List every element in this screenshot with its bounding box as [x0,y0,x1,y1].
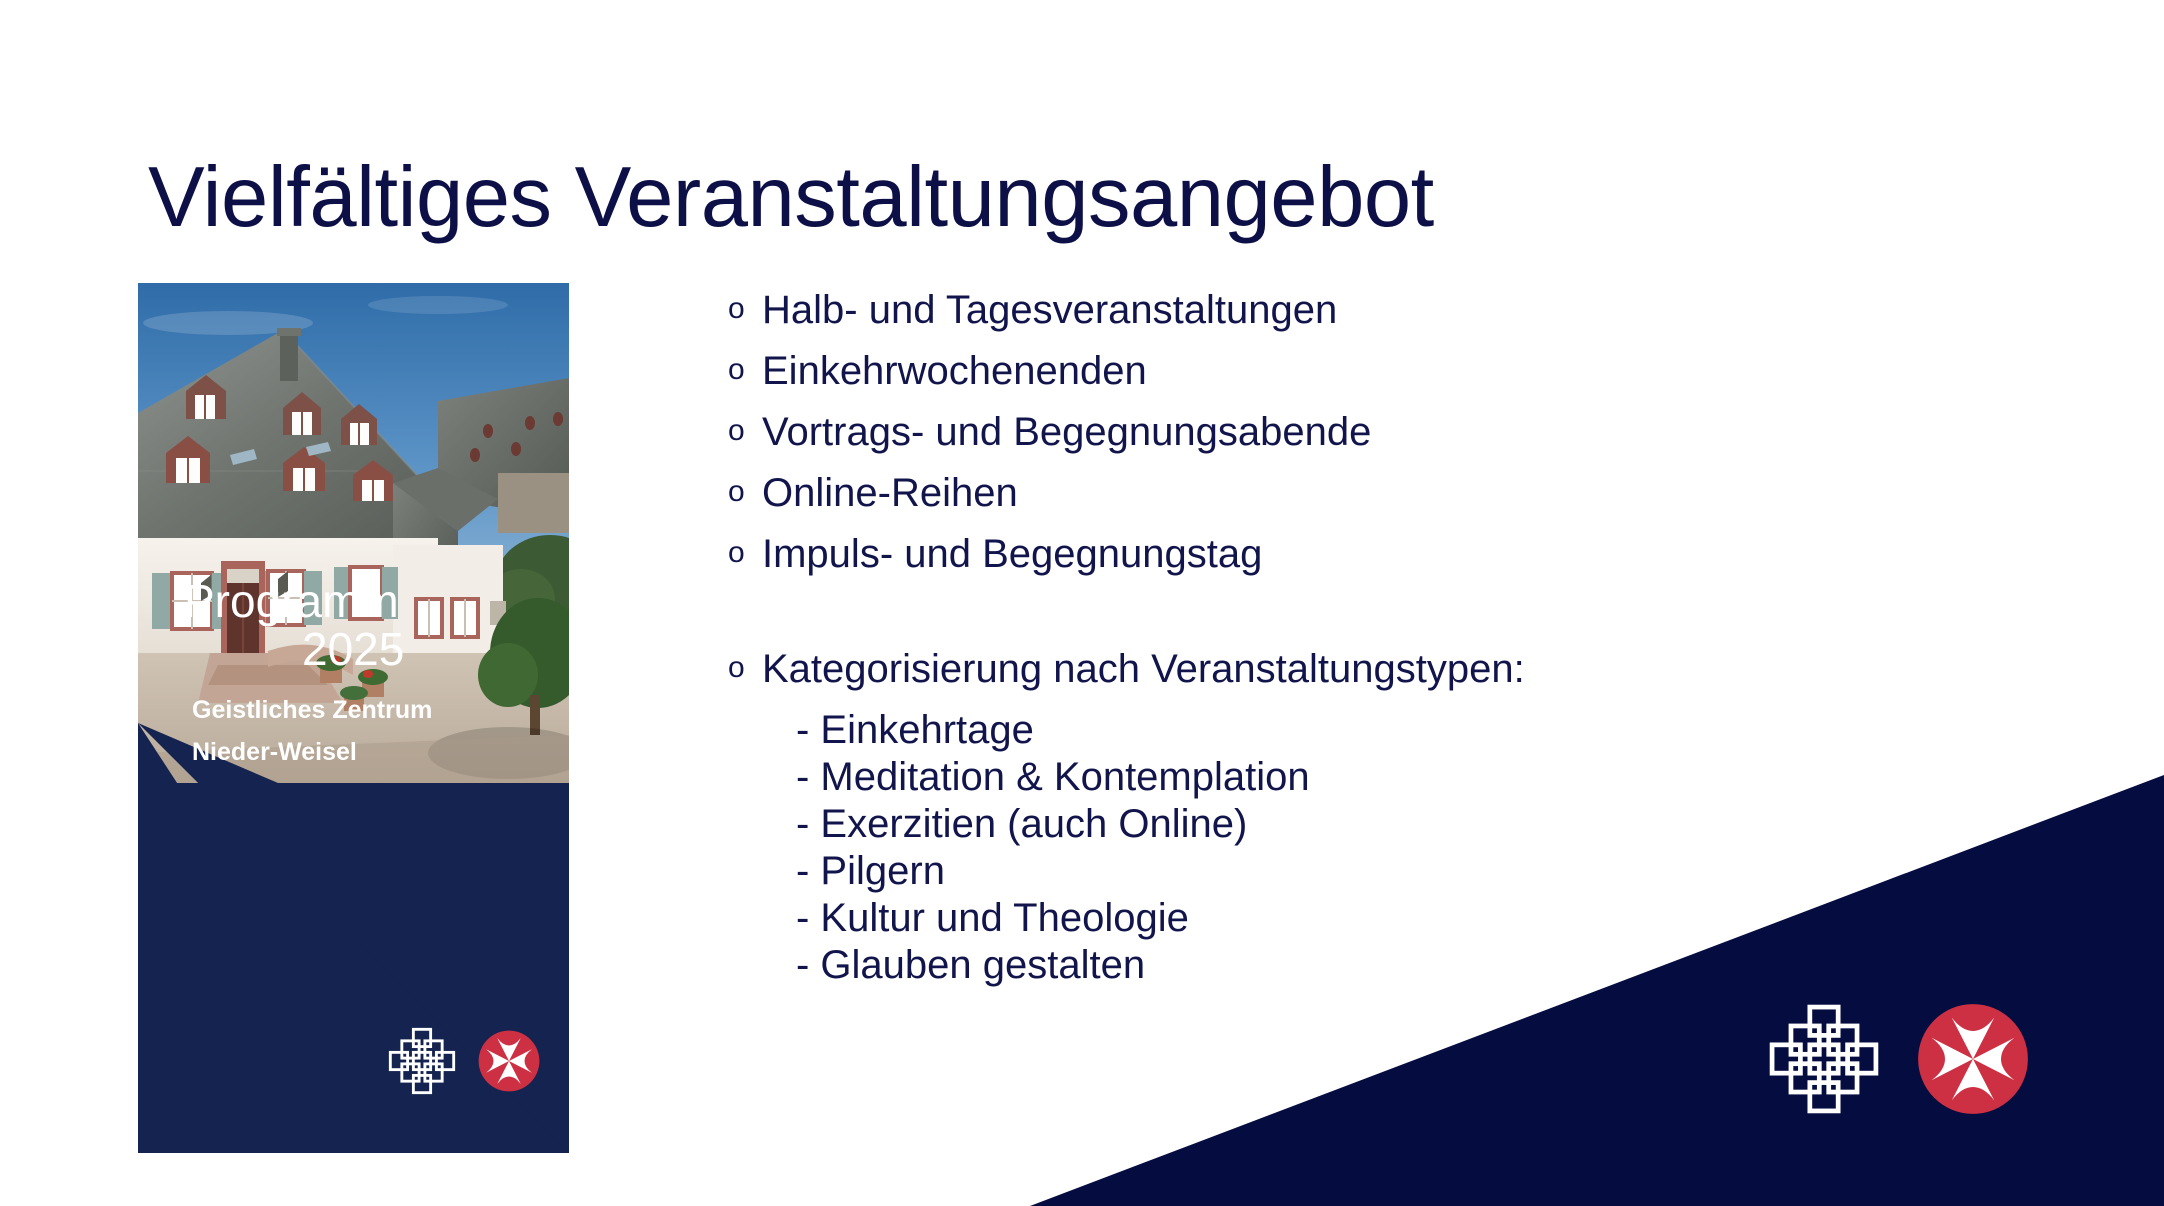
list-item-label: Kategorisierung nach Veranstaltungstypen… [762,649,1958,689]
list-item-categories-heading: o Kategorisierung nach Veranstaltungstyp… [728,649,1958,689]
brochure-year: 2025 [184,626,544,672]
list-item: o Einkehrwochenenden [728,351,1958,391]
slide: Vielfältiges Veranstaltungsangebot [0,0,2164,1206]
brochure-title-block: Programm 2025 Geistliches Zentrum Nieder… [184,578,544,767]
sub-list-item: - Einkehrtage [728,710,1958,750]
brochure-subtitle-line1: Geistliches Zentrum [184,696,544,725]
sub-list-item: - Pilgern [728,851,1958,891]
list-item-label: Vortrags- und Begegnungsabende [762,412,1958,452]
sub-list-item: - Glauben gestalten [728,945,1958,985]
bullet-marker-icon: o [728,351,762,389]
list-item-label: Impuls- und Begegnungstag [762,534,1958,574]
list-group-spacer [728,595,1958,649]
list-item-label: Einkehrwochenenden [762,351,1958,391]
johanniter-cross-logo-icon [1765,1000,1883,1118]
list-item: o Impuls- und Begegnungstag [728,534,1958,574]
sub-list-item: - Meditation & Kontemplation [728,757,1958,797]
page-title: Vielfältiges Veranstaltungsangebot [148,153,2048,242]
sub-list-item: - Exerzitien (auch Online) [728,804,1958,844]
brochure-subtitle-line2: Nieder-Weisel [184,738,544,767]
bullet-marker-icon: o [728,290,762,328]
corner-logo-group [1765,1000,2029,1118]
bullet-marker-icon: o [728,649,762,687]
list-item-label: Online-Reihen [762,473,1958,513]
johanniter-cross-logo-icon [386,1025,458,1097]
brochure-logo-group [386,1025,540,1097]
brochure-program-label: Programm [184,578,544,624]
brochure-thumbnail: Programm 2025 Geistliches Zentrum Nieder… [138,283,569,1153]
bullet-marker-icon: o [728,412,762,450]
maltese-cross-logo-icon [478,1030,540,1092]
maltese-cross-logo-icon [1917,1003,2029,1115]
bullet-marker-icon: o [728,473,762,511]
list-item: o Online-Reihen [728,473,1958,513]
sub-list-item: - Kultur und Theologie [728,898,1958,938]
list-item: o Halb- und Tagesveranstaltungen [728,290,1958,330]
bullet-marker-icon: o [728,534,762,572]
list-item-label: Halb- und Tagesveranstaltungen [762,290,1958,330]
bullet-content: o Halb- und Tagesveranstaltungen o Einke… [728,290,1958,992]
list-item: o Vortrags- und Begegnungsabende [728,412,1958,452]
